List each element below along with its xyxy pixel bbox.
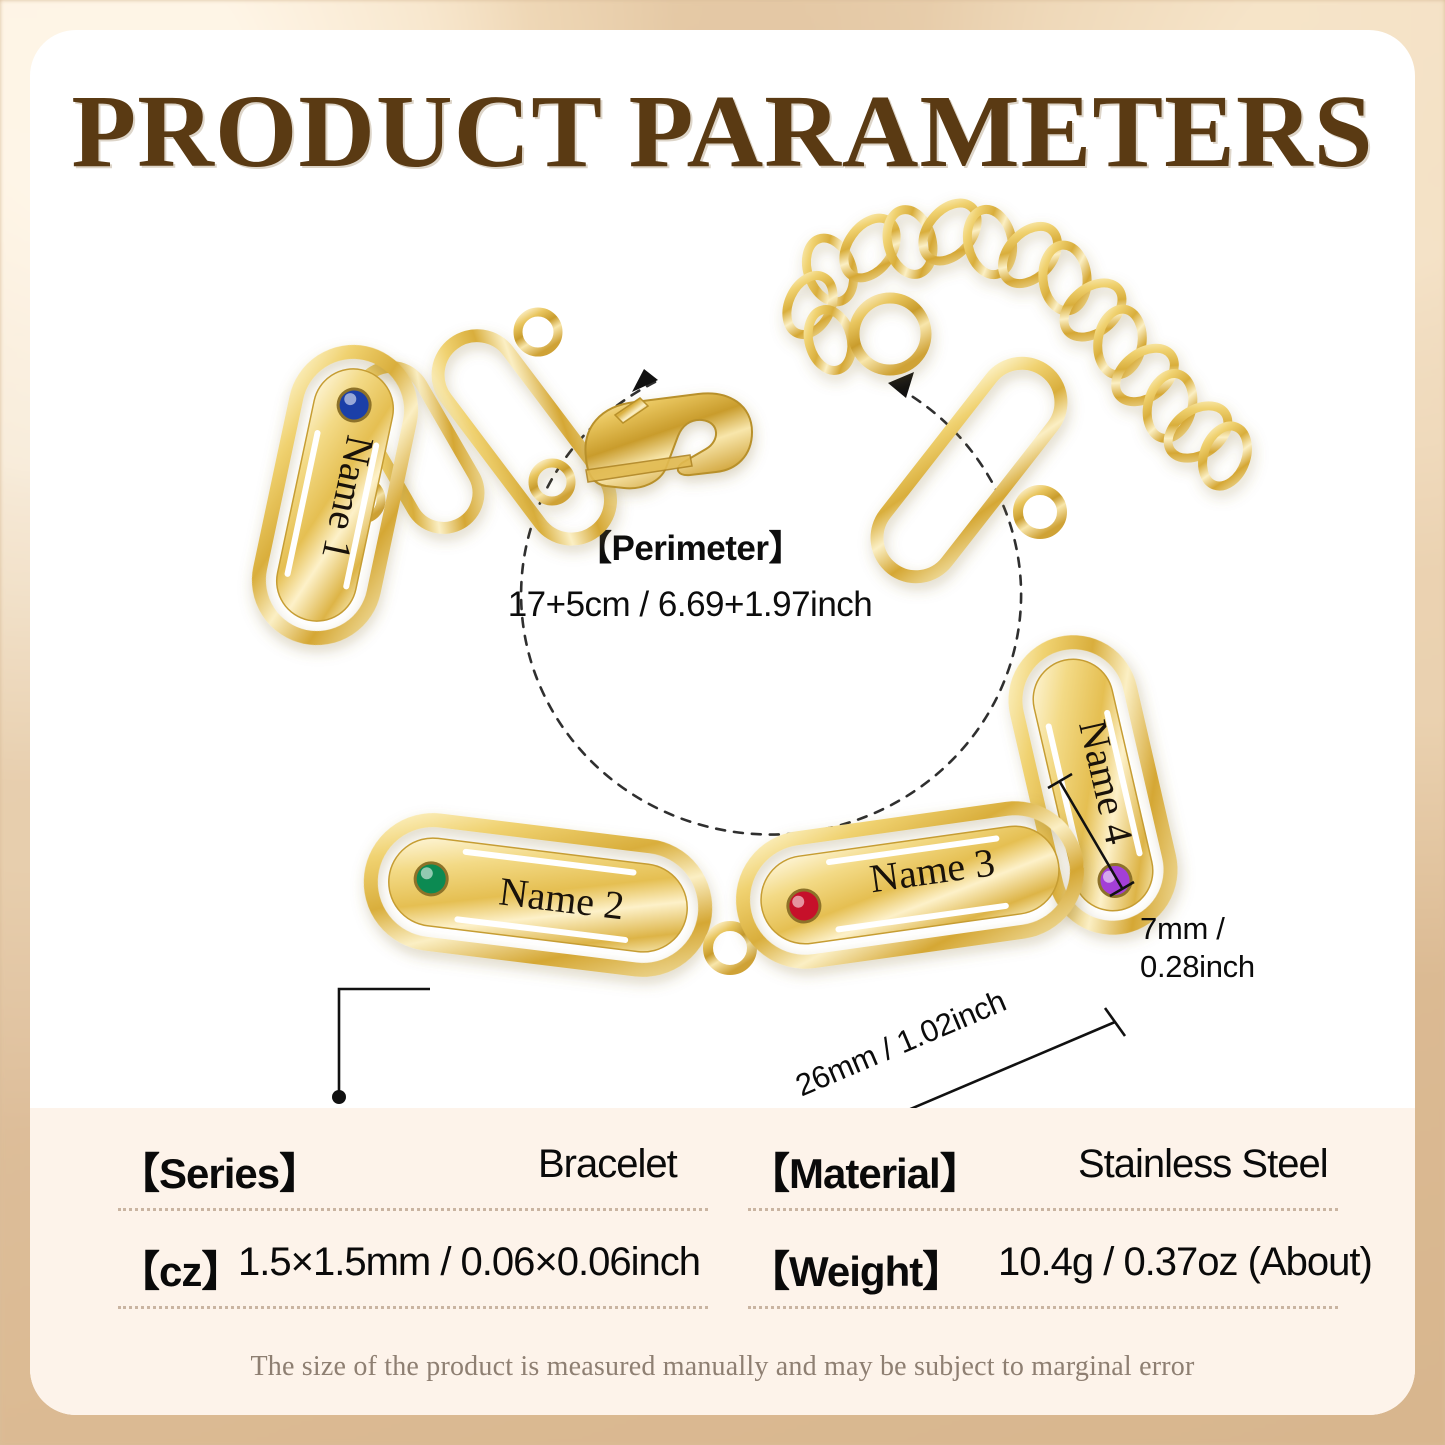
- leader-dot: [332, 1090, 346, 1104]
- product-card: PRODUCT PARAMETERS 【Perimeter】 17+5cm / …: [30, 30, 1415, 1415]
- lobster-clasp: [533, 393, 752, 501]
- jump-ring: [1018, 490, 1062, 534]
- spec-divider: [748, 1306, 1338, 1309]
- paperclip-link-right: [861, 347, 1076, 592]
- spec-cz-value: 1.5×1.5mm / 0.06×0.06inch: [238, 1240, 700, 1285]
- spec-weight-key: 【Weight】: [748, 1238, 963, 1299]
- specification-panel: 【Series】 Bracelet 【Material】 Stainless S…: [30, 1108, 1415, 1415]
- width-dimension-line2: 0.28inch: [1140, 948, 1255, 986]
- spec-series-key: 【Series】: [118, 1140, 320, 1201]
- extension-chain: [778, 193, 1255, 493]
- spec-material-value: Stainless Steel: [1078, 1142, 1328, 1187]
- width-dimension-label: 7mm / 0.28inch: [1140, 910, 1255, 986]
- product-illustration: 【Perimeter】 17+5cm / 6.69+1.97inch: [30, 170, 1415, 1140]
- width-dimension-line1: 7mm /: [1140, 910, 1255, 948]
- spec-divider: [118, 1306, 708, 1309]
- name-plate-3: Name 3: [735, 800, 1085, 970]
- jump-ring: [518, 312, 558, 352]
- cubic-zirconia-leader: [339, 989, 430, 1095]
- spec-series-value: Bracelet: [538, 1142, 677, 1187]
- measurement-disclaimer: The size of the product is measured manu…: [30, 1351, 1415, 1383]
- spec-divider: [118, 1208, 708, 1211]
- spec-weight-value: 10.4g / 0.37oz (About): [998, 1240, 1372, 1285]
- name-plate-1: Name 1: [248, 341, 422, 649]
- bracelet-graphic: Name 1 Name 4 Name 2: [30, 170, 1415, 1140]
- spec-divider: [748, 1208, 1338, 1211]
- name-plate-2: Name 2: [364, 813, 713, 977]
- spec-cz-key: 【cz】: [118, 1238, 242, 1299]
- spec-material-key: 【Material】: [748, 1140, 981, 1201]
